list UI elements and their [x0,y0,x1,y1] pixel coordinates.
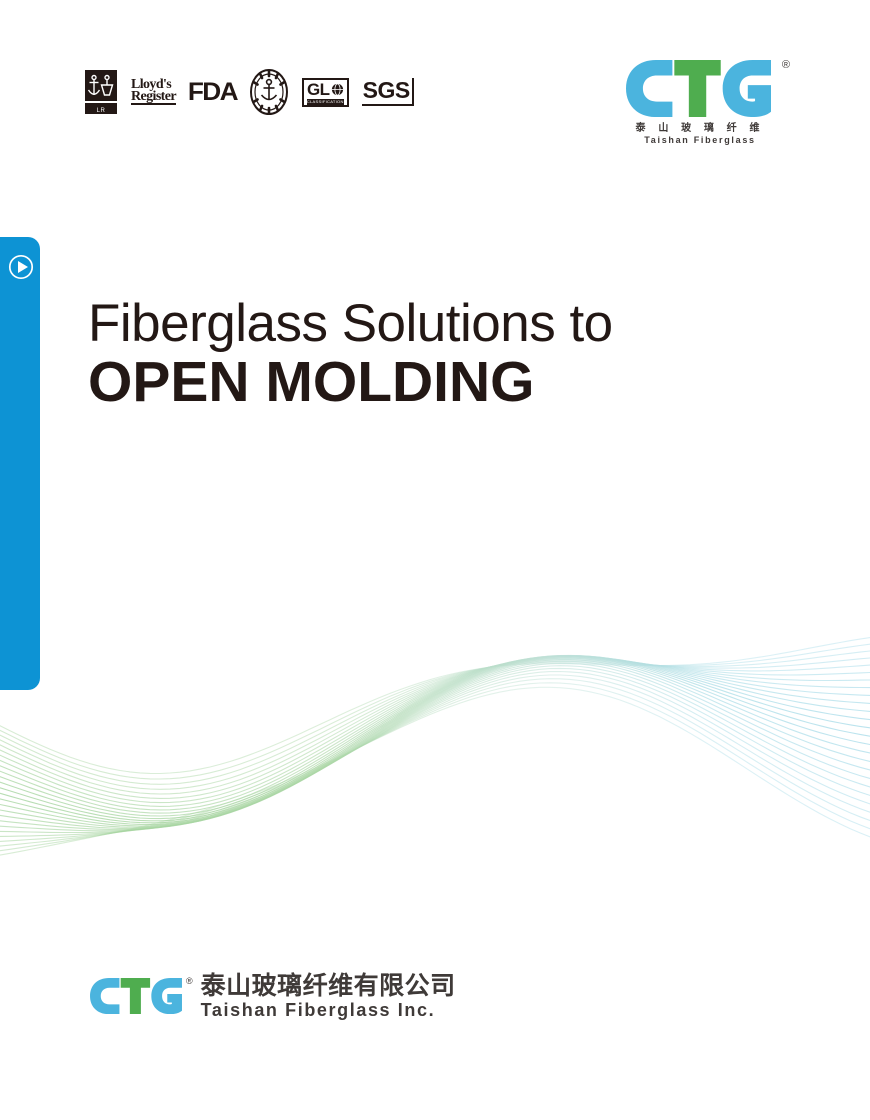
header-brand-english-name: Taishan Fiberglass [626,135,774,145]
svg-text:LR: LR [97,108,106,114]
lloyds-register-wordmark: Lloyd's Register [131,79,176,105]
header-brand-logo: ® 泰 山 玻 璃 纤 维 Taishan Fiberglass [626,60,786,145]
side-accent-tab[interactable] [0,237,40,690]
gl-wordmark: GL CLASSIFICATION [302,78,349,107]
ctg-logo-icon [626,60,771,117]
footer-brand-block: ® 泰山玻璃纤维有限公司 Taishan Fiberglass Inc. [90,972,456,1020]
sgs-wordmark: SGS [362,78,414,105]
lr-wordmark-line2: Register [131,91,176,102]
registered-trademark-mark: ® [782,59,790,71]
footer-company-english-name: Taishan Fiberglass Inc. [201,1000,456,1020]
certification-logo-strip: LR Lloyd's Register FDA [84,66,414,118]
page-title: Fiberglass Solutions to OPEN MOLDING [88,297,728,413]
gl-wordmark-label: GL [307,81,330,98]
fda-wordmark: FDA [188,78,237,107]
germanischer-lloyd-seal-icon [249,68,289,116]
cover-page: LR Lloyd's Register FDA [0,0,870,1120]
footer-registered-trademark-mark: ® [186,976,193,986]
title-line-primary: Fiberglass Solutions to [88,297,728,351]
gl-wordmark-sublabel: CLASSIFICATION [307,99,344,105]
wave-mesh-artwork [0,560,870,960]
play-circle-icon[interactable] [8,254,34,280]
title-line-emphasis: OPEN MOLDING [88,353,728,413]
footer-company-chinese-name: 泰山玻璃纤维有限公司 [201,972,456,1000]
lloyds-register-anchor-emblem-icon: LR [84,69,118,115]
header-brand-chinese-name: 泰 山 玻 璃 纤 维 [626,119,774,134]
gl-globe-icon [331,83,344,96]
ctg-logo-icon [90,978,182,1014]
